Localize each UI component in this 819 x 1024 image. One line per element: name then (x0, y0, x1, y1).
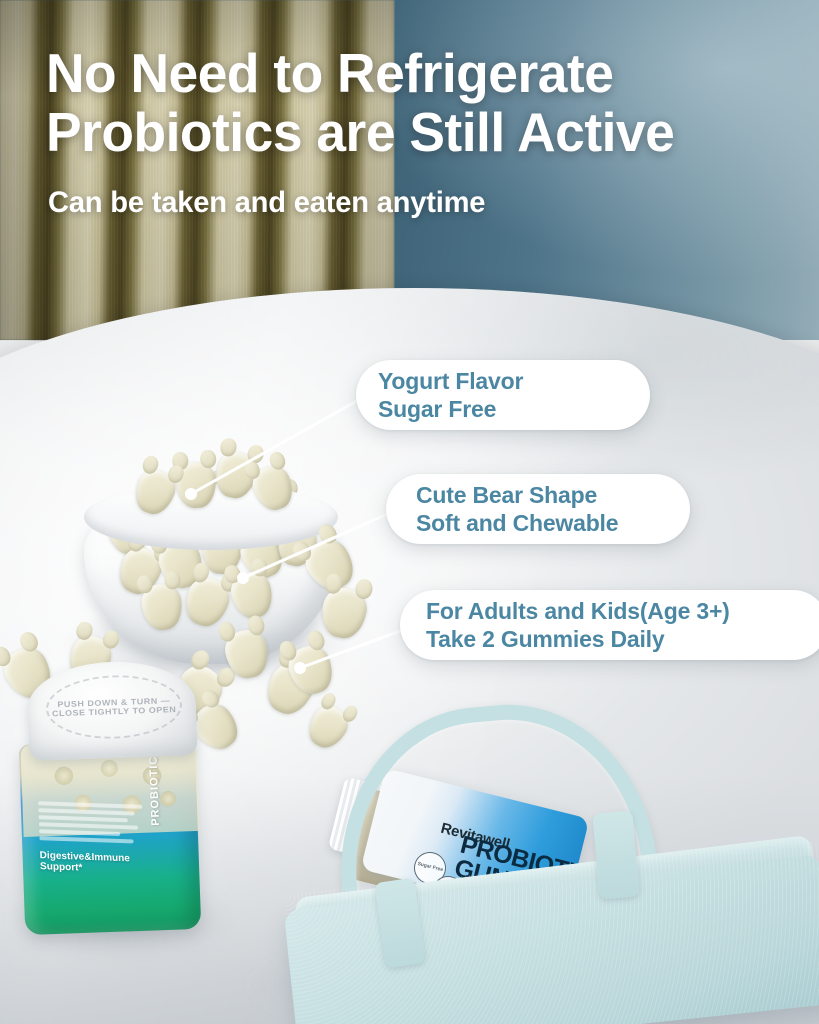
leader-line-3 (300, 628, 408, 668)
callout-3-line-2: Take 2 Gummies Daily (426, 625, 819, 653)
product-marketing-image: No Need to Refrigerate Probiotics are St… (0, 0, 819, 1024)
tote-handle-tab-right (592, 810, 639, 899)
label-text-line (39, 829, 120, 836)
callout-pill-bear-shape[interactable]: Cute Bear Shape Soft and Chewable (386, 474, 690, 544)
callout-3-line-1: For Adults and Kids(Age 3+) (426, 597, 819, 625)
label-text-line (39, 815, 129, 822)
leader-dot-1 (185, 488, 197, 500)
label-text-line (38, 808, 134, 815)
label-text-line (39, 836, 133, 843)
left-bottle-support-claim: Digestive&Immune Support* (40, 850, 145, 876)
leader-dot-3 (294, 662, 306, 674)
callout-1-line-2: Sugar Free (378, 395, 650, 423)
leader-line-1 (191, 398, 362, 494)
callout-2-line-1: Cute Bear Shape (416, 481, 690, 509)
callout-pill-yogurt-flavor[interactable]: Yogurt Flavor Sugar Free (356, 360, 650, 430)
leader-dot-2 (237, 572, 249, 584)
callout-pill-dosage[interactable]: For Adults and Kids(Age 3+) Take 2 Gummi… (400, 590, 819, 660)
leader-line-2 (243, 512, 392, 578)
label-text-line (39, 822, 138, 829)
callout-2-line-2: Soft and Chewable (416, 509, 690, 537)
label-text-line (38, 801, 142, 809)
callout-1-line-1: Yogurt Flavor (378, 367, 650, 395)
